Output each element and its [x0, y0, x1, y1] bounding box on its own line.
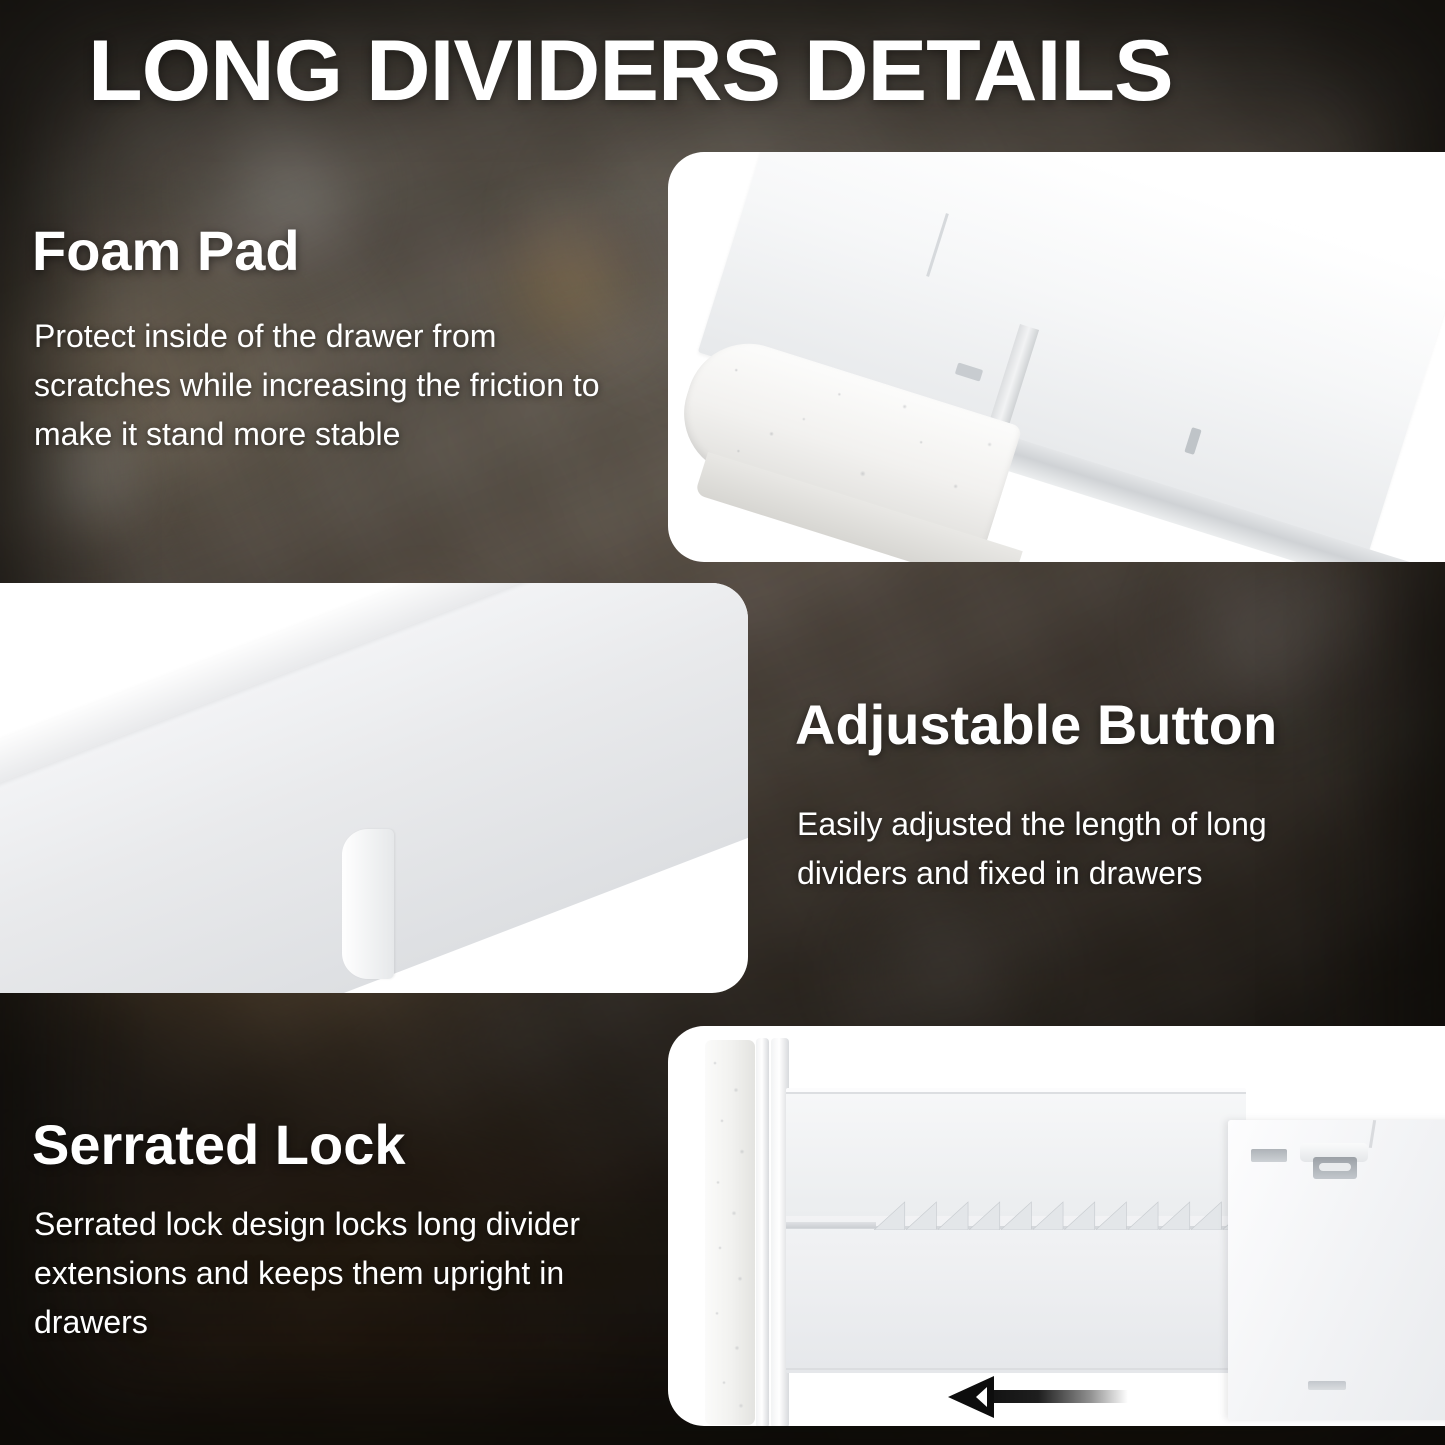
sliding-panel-clip-highlight — [1319, 1163, 1351, 1171]
sliding-panel-bottom-slot — [1308, 1381, 1346, 1390]
page-title: LONG DIVIDERS DETAILS — [88, 22, 1173, 121]
adjustable-button-photo-card — [0, 583, 748, 993]
section-title-adjustable-button: Adjustable Button — [795, 692, 1277, 757]
foam-pad-photo-card — [668, 152, 1445, 562]
sliding-panel-slot — [1251, 1149, 1287, 1162]
serrated-rail-lead-in — [786, 1222, 876, 1228]
divider-rail-upper-face — [786, 1092, 1246, 1216]
section-title-foam-pad: Foam Pad — [32, 218, 300, 283]
left-arrow-head — [948, 1376, 994, 1418]
end-cap-rib-outer — [756, 1038, 769, 1426]
divider-rail-end-cap — [342, 829, 394, 979]
section-body-adjustable-button: Easily adjusted the length of long divid… — [797, 800, 1377, 898]
serrated-lock-photo-card — [668, 1026, 1445, 1426]
divider-rail-lower-face — [786, 1250, 1246, 1370]
section-title-serrated-lock: Serrated Lock — [32, 1112, 406, 1177]
left-arrow-shaft — [978, 1390, 1128, 1403]
foam-pad-strip — [705, 1040, 755, 1425]
serrated-teeth — [874, 1200, 1254, 1230]
section-body-foam-pad: Protect inside of the drawer from scratc… — [34, 312, 634, 459]
left-arrow-notch — [976, 1387, 987, 1407]
left-arrow-icon — [948, 1376, 1128, 1418]
section-body-serrated-lock: Serrated lock design locks long divider … — [34, 1200, 634, 1347]
